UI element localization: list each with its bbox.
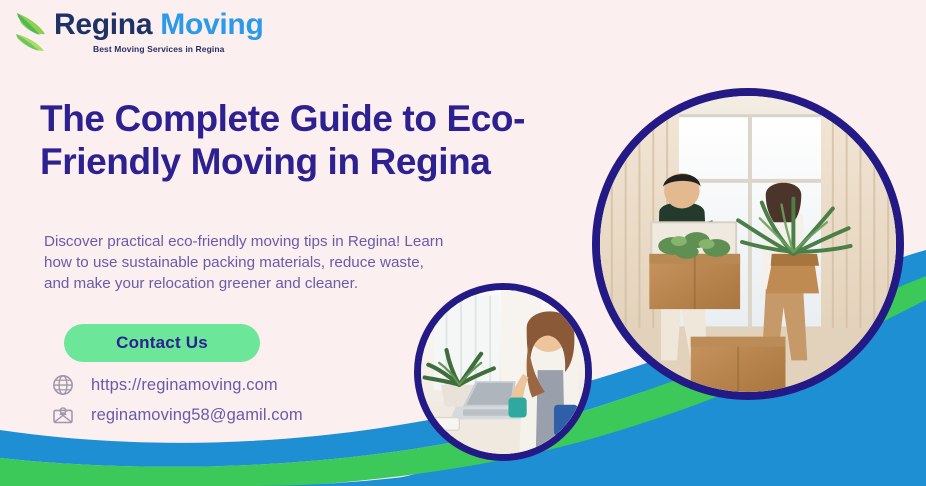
website-url: https://reginamoving.com — [91, 376, 278, 395]
contact-email[interactable]: reginamoving58@gamil.com — [52, 400, 303, 430]
logo-word-moving: Moving — [160, 8, 263, 41]
logo-wordmark: Regina Moving — [54, 10, 263, 40]
email-address: reginamoving58@gamil.com — [91, 406, 303, 425]
woman-desk-photo — [421, 290, 585, 454]
promo-banner: Regina Moving Best Moving Services in Re… — [0, 0, 926, 486]
leaf-icon — [14, 10, 48, 54]
contact-website[interactable]: https://reginamoving.com — [52, 370, 303, 400]
hero-description: Discover practical eco-friendly moving t… — [44, 232, 444, 294]
globe-icon — [52, 374, 74, 396]
couple-moving-photo — [600, 96, 896, 392]
contact-us-button[interactable]: Contact Us — [64, 324, 260, 362]
email-icon — [52, 404, 74, 426]
cardboard-box-held — [649, 222, 740, 309]
logo-word-regina: Regina — [54, 8, 152, 41]
hero-image-large — [592, 88, 904, 400]
page-title: The Complete Guide to Eco-Friendly Movin… — [40, 98, 530, 184]
logo-tagline: Best Moving Services in Regina — [54, 45, 263, 54]
brand-logo[interactable]: Regina Moving Best Moving Services in Re… — [14, 10, 263, 54]
floor-boxes — [691, 337, 786, 392]
notebook — [428, 418, 459, 431]
hero-image-small — [414, 283, 592, 461]
contact-list: https://reginamoving.com reginamoving58@… — [52, 370, 303, 430]
